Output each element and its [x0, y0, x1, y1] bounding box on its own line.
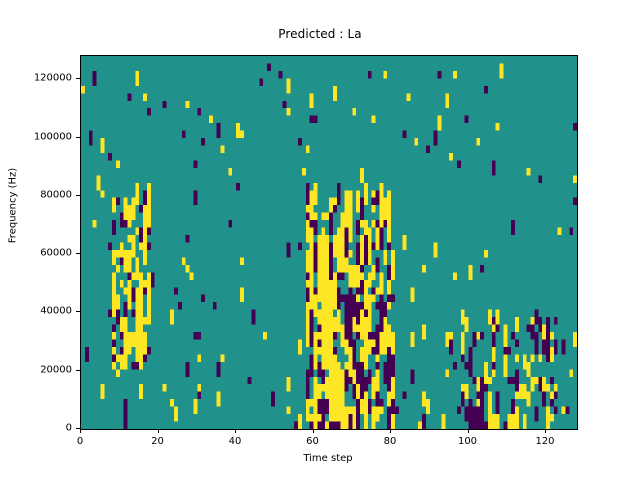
x-tick-label: 80	[384, 436, 397, 447]
y-tick-mark	[76, 428, 80, 429]
x-tick-label: 20	[151, 436, 164, 447]
y-tick-label: 120000	[0, 73, 72, 84]
y-tick-label: 0	[0, 423, 72, 434]
heatmap-axes	[80, 55, 578, 430]
y-tick-mark	[76, 253, 80, 254]
x-tick-label: 0	[77, 436, 83, 447]
x-tick-mark	[468, 429, 469, 433]
x-axis-label: Time step	[80, 453, 576, 464]
y-tick-label: 40000	[0, 306, 72, 317]
y-tick-mark	[76, 195, 80, 196]
matplotlib-figure: Predicted : La 020406080100120 020000400…	[0, 0, 640, 480]
y-tick-mark	[76, 370, 80, 371]
x-tick-label: 120	[535, 436, 554, 447]
x-tick-mark	[545, 429, 546, 433]
y-tick-mark	[76, 311, 80, 312]
x-tick-label: 100	[458, 436, 477, 447]
y-tick-label: 20000	[0, 364, 72, 375]
x-tick-mark	[313, 429, 314, 433]
x-tick-label: 40	[229, 436, 242, 447]
y-tick-mark	[76, 137, 80, 138]
y-tick-mark	[76, 78, 80, 79]
y-axis-label: Frequency (Hz)	[8, 116, 19, 296]
x-tick-mark	[235, 429, 236, 433]
x-tick-mark	[158, 429, 159, 433]
x-tick-label: 60	[306, 436, 319, 447]
x-tick-mark	[80, 429, 81, 433]
x-tick-mark	[390, 429, 391, 433]
heatmap-image	[81, 56, 577, 429]
page-title: Predicted : La	[0, 27, 640, 41]
